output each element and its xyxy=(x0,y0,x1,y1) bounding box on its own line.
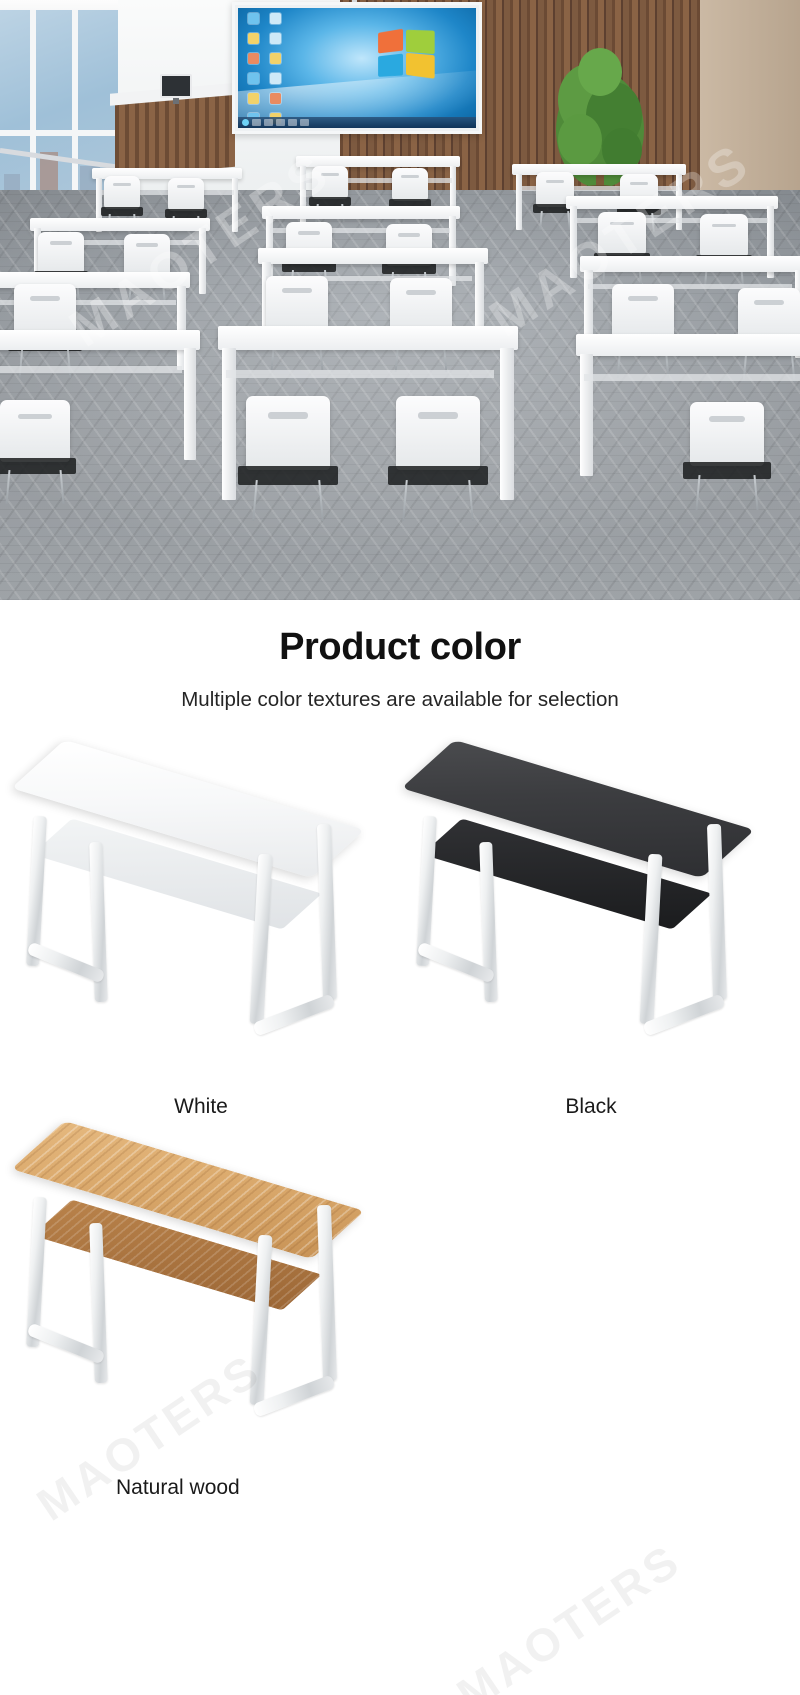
section-subtitle: Multiple color textures are available fo… xyxy=(0,688,800,712)
classroom-chair-front xyxy=(246,396,330,516)
windows-desktop-screen xyxy=(238,8,476,128)
desktop-icons xyxy=(243,13,287,125)
classroom-chair xyxy=(266,276,328,366)
product-color-section: Product color Multiple color textures ar… xyxy=(0,600,800,1500)
color-label-natural-wood: Natural wood xyxy=(16,1476,386,1500)
page-title: Product color xyxy=(0,626,800,670)
classroom-hero-image: MAOTERS MAOTERS xyxy=(0,0,800,600)
windows-logo-icon xyxy=(378,28,436,79)
monitor-stand xyxy=(173,98,179,104)
classroom-chair xyxy=(612,284,674,374)
product-detail-page: MAOTERS MAOTERS Product color Multiple c… xyxy=(0,0,800,1695)
watermark: MAOTERS xyxy=(447,1532,691,1695)
desk-3d-black xyxy=(414,756,764,1086)
color-grid-empty-cell xyxy=(406,1119,776,1500)
taskbar xyxy=(238,117,476,128)
desk-3d-white xyxy=(24,756,374,1086)
color-label-white: White xyxy=(16,1095,386,1119)
classroom-chair xyxy=(390,278,452,368)
color-option-white[interactable]: White xyxy=(16,738,386,1119)
monitor-icon xyxy=(160,74,192,98)
color-option-natural-wood[interactable]: Natural wood xyxy=(16,1119,386,1500)
white-desk-image xyxy=(16,738,386,1093)
projector-screen xyxy=(232,2,482,134)
classroom-chair-front xyxy=(396,396,480,516)
black-desk-image xyxy=(406,738,776,1093)
classroom-chair xyxy=(690,402,764,506)
desk-3d-wood xyxy=(24,1137,374,1467)
color-options-grid: White Black xyxy=(0,738,800,1500)
classroom-chair xyxy=(700,214,748,284)
color-option-black[interactable]: Black xyxy=(406,738,776,1119)
classroom-chair xyxy=(0,400,70,500)
classroom-chair xyxy=(14,284,76,374)
classroom-chair xyxy=(738,288,800,378)
color-label-black: Black xyxy=(406,1095,776,1119)
natural-wood-desk-image xyxy=(16,1119,386,1474)
